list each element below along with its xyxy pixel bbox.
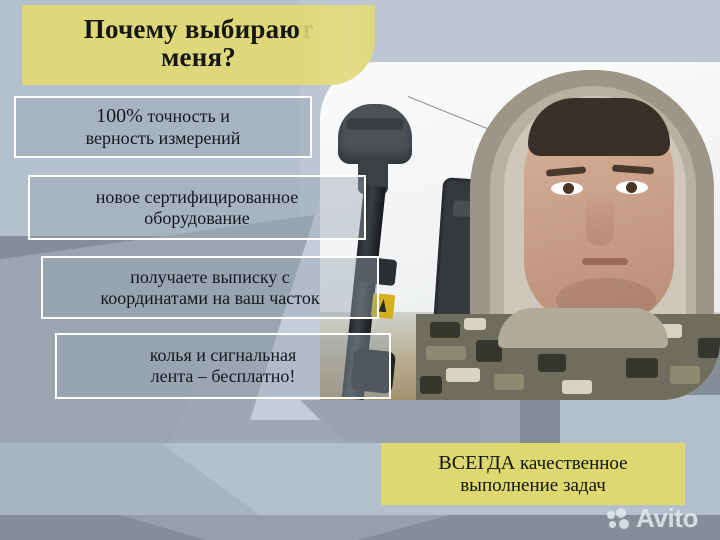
hair — [528, 98, 670, 156]
avito-wordmark: Avito — [636, 503, 698, 534]
feature-equipment-line-1: новое сертифицированное — [96, 187, 298, 208]
pupil-right — [626, 182, 637, 193]
avito-logo-icon — [607, 508, 631, 530]
feature-box-equipment: новое сертифицированное оборудование — [28, 175, 366, 240]
feature-equipment-text: новое сертифицированное оборудование — [96, 187, 298, 228]
feature-accuracy-line-2: верность измерений — [86, 128, 241, 149]
feature-box-free-stakes: колья и сигнальная лента – бесплатно! — [55, 333, 391, 399]
feature-free-stakes-text: колья и сигнальная лента – бесплатно! — [150, 345, 297, 386]
feature-free-stakes-line-2: лента – бесплатно! — [150, 366, 297, 387]
feature-accuracy-text: 100% точность и верность измерений — [86, 105, 241, 148]
headline-line-1: Почему выбирают — [84, 15, 313, 43]
slogan-caps: ВСЕГДА — [438, 452, 515, 474]
avito-watermark: Avito — [607, 503, 698, 534]
slogan-line-1: ВСЕГДА качественное — [438, 452, 627, 475]
headline-banner: Почему выбирают меня? — [22, 5, 375, 85]
slogan-line-2: выполнение задач — [438, 475, 627, 497]
headline-line-2: меня? — [84, 43, 313, 71]
nose — [586, 194, 614, 246]
feature-coordinates-line-2: координатами на ваш часток — [100, 288, 319, 309]
slogan-rest: качественное — [515, 453, 627, 474]
accuracy-percent: 100% — [96, 105, 143, 127]
feature-free-stakes-line-1: колья и сигнальная — [150, 345, 297, 366]
slogan-banner: ВСЕГДА качественное выполнение задач — [381, 443, 685, 505]
ad-canvas: Почему выбирают меня? 100% точность и ве… — [0, 0, 720, 540]
feature-coordinates-text: получаете выписку с координатами на ваш … — [100, 267, 319, 308]
pupil-left — [563, 183, 574, 194]
bg-shape-rect-right — [560, 395, 720, 443]
accuracy-rest: точность и — [143, 106, 230, 126]
feature-accuracy-line-1: 100% точность и — [86, 105, 241, 128]
mouth — [582, 258, 628, 265]
feature-coordinates-line-1: получаете выписку с — [100, 267, 319, 288]
gnss-antenna — [338, 104, 412, 164]
feature-box-accuracy: 100% точность и верность измерений — [14, 96, 312, 158]
feature-equipment-line-2: оборудование — [96, 208, 298, 229]
headline-text: Почему выбирают меня? — [84, 15, 313, 72]
slogan-text: ВСЕГДА качественное выполнение задач — [438, 452, 627, 496]
feature-box-coordinates: получаете выписку с координатами на ваш … — [41, 256, 379, 319]
hood-collar — [498, 308, 668, 348]
